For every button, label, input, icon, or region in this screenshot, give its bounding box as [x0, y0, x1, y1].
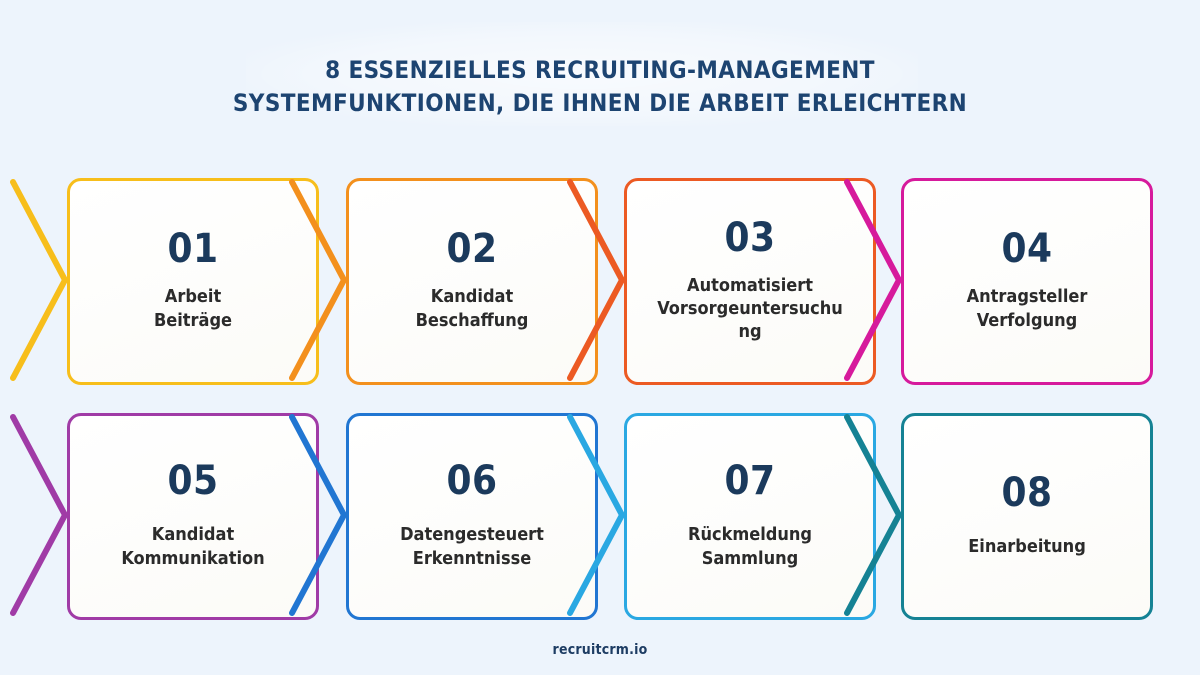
card-number: 01 — [167, 229, 218, 269]
card-body: 02 KandidatBeschaffung — [346, 178, 598, 385]
feature-card-grid: 01 ArbeitBeiträge 02 KandidatBeschaffung — [0, 178, 1200, 648]
card-label: ArbeitBeiträge — [154, 285, 232, 331]
feature-card-05[interactable]: 05 KandidatKommunikation — [67, 413, 319, 620]
card-label: AntragstellerVerfolgung — [967, 285, 1088, 331]
feature-card-01[interactable]: 01 ArbeitBeiträge — [67, 178, 319, 385]
card-label: AutomatisiertVorsorgeuntersuchung — [655, 274, 845, 343]
feature-card-07[interactable]: 07 RückmeldungSammlung — [624, 413, 876, 620]
card-number: 02 — [446, 229, 497, 269]
card-body: 01 ArbeitBeiträge — [67, 178, 319, 385]
card-body: 07 RückmeldungSammlung — [624, 413, 876, 620]
card-number: 06 — [446, 461, 497, 501]
card-body: 04 AntragstellerVerfolgung — [901, 178, 1153, 385]
feature-card-04[interactable]: 04 AntragstellerVerfolgung — [901, 178, 1153, 385]
feature-card-02[interactable]: 02 KandidatBeschaffung — [346, 178, 598, 385]
card-body: 08 Einarbeitung — [901, 413, 1153, 620]
card-number: 07 — [724, 461, 775, 501]
card-body: 03 AutomatisiertVorsorgeuntersuchung — [624, 178, 876, 385]
card-label: KandidatBeschaffung — [416, 285, 529, 331]
page-title-line-1: 8 ESSENZIELLES RECRUITING-MANAGEMENT — [0, 54, 1200, 87]
card-label: KandidatKommunikation — [121, 523, 264, 569]
card-number: 05 — [167, 461, 218, 501]
feature-card-03[interactable]: 03 AutomatisiertVorsorgeuntersuchung — [624, 178, 876, 385]
card-body: 05 KandidatKommunikation — [67, 413, 319, 620]
card-label: Einarbeitung — [968, 535, 1086, 558]
chevron-right-icon — [9, 411, 71, 622]
page-title: 8 ESSENZIELLES RECRUITING-MANAGEMENT SYS… — [0, 54, 1200, 120]
card-label: DatengesteuertErkenntnisse — [400, 523, 544, 569]
card-number: 03 — [724, 218, 775, 258]
card-row-2: 05 KandidatKommunikation 06 Datengesteue… — [0, 413, 1200, 620]
card-label: RückmeldungSammlung — [688, 523, 812, 569]
card-row-1: 01 ArbeitBeiträge 02 KandidatBeschaffung — [0, 178, 1200, 385]
card-number: 08 — [1001, 473, 1052, 513]
feature-card-06[interactable]: 06 DatengesteuertErkenntnisse — [346, 413, 598, 620]
page-title-line-2: SYSTEMFUNKTIONEN, DIE IHNEN DIE ARBEIT E… — [0, 87, 1200, 120]
feature-card-08[interactable]: 08 Einarbeitung — [901, 413, 1153, 620]
card-number: 04 — [1001, 229, 1052, 269]
card-body: 06 DatengesteuertErkenntnisse — [346, 413, 598, 620]
chevron-right-icon — [9, 176, 71, 387]
brand-footer: recruitcrm.io — [0, 642, 1200, 658]
